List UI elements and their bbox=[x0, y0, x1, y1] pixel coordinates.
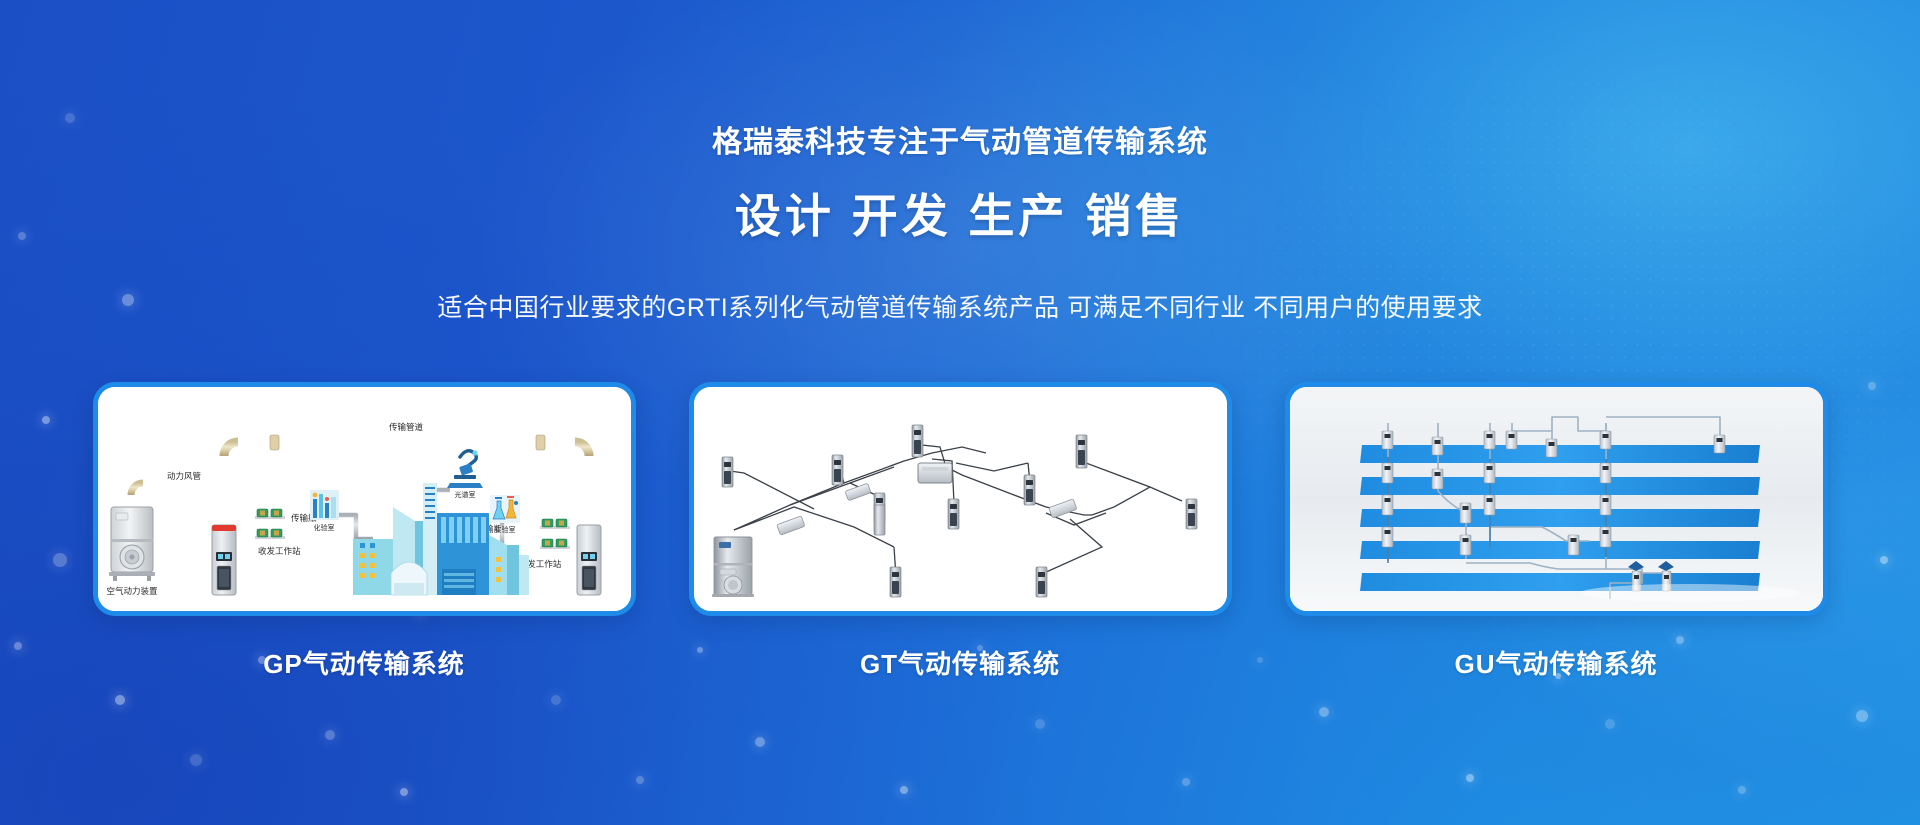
product-card-gt-image[interactable] bbox=[689, 382, 1232, 616]
hero-headline-emphasis: 设计 开发 生产 销售 bbox=[0, 180, 1920, 246]
product-card-gt[interactable]: GT气动传输系统 bbox=[689, 382, 1232, 681]
gt-pipe-network bbox=[730, 439, 1192, 577]
product-card-gp-caption: GP气动传输系统 bbox=[93, 644, 636, 681]
gp-label-air-power-unit: 空气动力装置 bbox=[106, 586, 158, 596]
product-card-gp-image[interactable]: 传输管道 动力风管 bbox=[93, 382, 636, 616]
gt-system-diagram bbox=[694, 387, 1227, 611]
product-card-gu-image[interactable] bbox=[1285, 382, 1828, 616]
hero-headline: 格瑞泰科技专注于气动管道传输系统 bbox=[0, 117, 1920, 161]
gp-label-pipeline: 传输管道 bbox=[388, 422, 423, 432]
product-card-list: 传输管道 动力风管 bbox=[0, 382, 1920, 681]
product-card-gu-caption: GU气动传输系统 bbox=[1285, 644, 1828, 681]
gp-label-workstation-left: 收发工作站 bbox=[258, 546, 301, 556]
gp-transfer-bottle-right bbox=[540, 519, 570, 549]
gp-laboratory-icon bbox=[490, 495, 520, 523]
gp-workstation-right bbox=[577, 525, 601, 595]
gp-workstation-left bbox=[212, 525, 236, 595]
gp-label-spectro-room: 光谱室 bbox=[454, 490, 475, 499]
gp-label-laboratory: 实验室 bbox=[494, 525, 515, 534]
gu-system-diagram bbox=[1290, 387, 1823, 611]
gp-label-chem-lab: 化验室 bbox=[313, 523, 334, 532]
product-card-gu[interactable]: GU气动传输系统 bbox=[1285, 382, 1828, 681]
hero-subtitle: 适合中国行业要求的GRTI系列化气动管道传输系统产品 可满足不同行业 不同用户的… bbox=[0, 288, 1920, 324]
product-card-gp[interactable]: 传输管道 动力风管 bbox=[93, 382, 636, 681]
gp-transfer-bottle-left bbox=[255, 509, 285, 539]
gp-system-diagram: 传输管道 动力风管 bbox=[98, 387, 631, 611]
gp-chem-lab-icon bbox=[310, 490, 339, 520]
gp-air-power-unit bbox=[109, 507, 155, 581]
product-card-gt-caption: GT气动传输系统 bbox=[689, 644, 1232, 681]
gt-air-power-unit bbox=[712, 537, 754, 597]
gp-label-power-duct: 动力风管 bbox=[166, 471, 200, 481]
hero-banner: 格瑞泰科技专注于气动管道传输系统 设计 开发 生产 销售 适合中国行业要求的GR… bbox=[0, 0, 1920, 825]
gp-spectro-room-icon bbox=[447, 450, 483, 488]
gt-stations bbox=[722, 425, 1197, 597]
